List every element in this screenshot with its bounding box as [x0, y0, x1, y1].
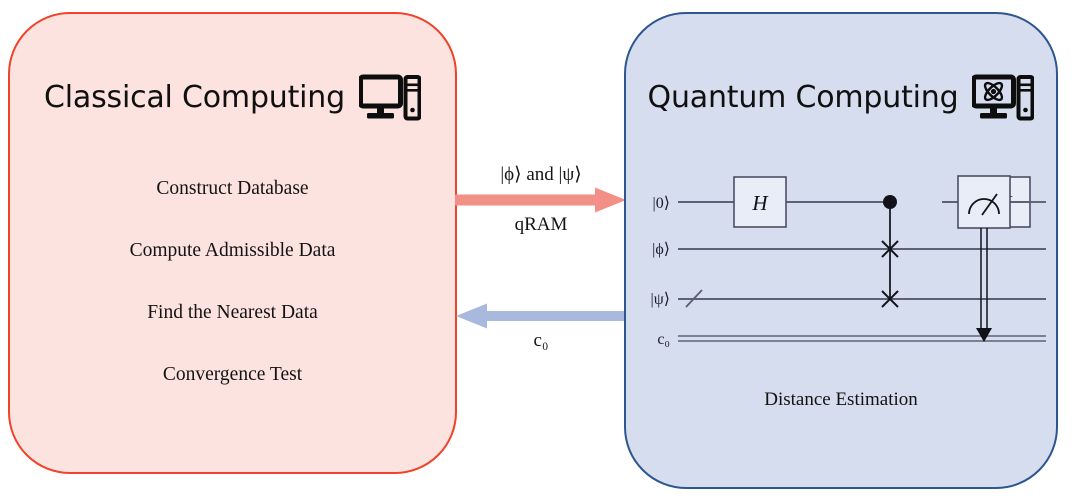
wire-label-3: c₀: [657, 331, 670, 348]
c0-arrow-group: c₀: [455, 303, 627, 353]
quantum-panel-header: Quantum Computing: [626, 74, 1056, 121]
classical-computing-panel: Classical Computing Construct Database C…: [8, 12, 457, 474]
list-item: Convergence Test: [10, 360, 455, 422]
list-item: Compute Admissible Data: [10, 236, 455, 298]
wire-label-1: |ϕ⟩: [652, 241, 670, 258]
readout-arrowhead-icon: [976, 328, 992, 342]
qram-arrow-group: |ϕ⟩ and |ψ⟩ qRAM: [455, 163, 627, 237]
distance-estimation-caption: Distance Estimation: [626, 389, 1056, 411]
hadamard-gate-1-label: H: [751, 191, 769, 215]
quantum-computing-panel: Quantum Computing |0⟩ |ϕ⟩ |ψ⟩: [624, 12, 1058, 489]
wire-label-2: |ψ⟩: [651, 291, 670, 308]
measurement-group: [944, 162, 1032, 362]
measurement-gate: [958, 176, 1010, 228]
c0-arrow-label-below: c₀: [455, 329, 627, 353]
classical-panel-header: Classical Computing: [10, 74, 455, 121]
c0-arrow-icon: [455, 303, 627, 329]
quantum-computer-icon: [972, 74, 1034, 121]
qram-arrow-label-above: |ϕ⟩ and |ψ⟩: [455, 163, 627, 187]
classical-panel-title: Classical Computing: [44, 80, 345, 115]
qram-arrow-label-below: qRAM: [455, 213, 627, 237]
qram-arrow-icon: [455, 187, 627, 213]
list-item: Construct Database: [10, 174, 455, 236]
quantum-panel-title: Quantum Computing: [648, 80, 959, 115]
wire-label-0: |0⟩: [653, 195, 670, 212]
control-dot-icon: [883, 195, 897, 209]
desktop-computer-icon: [359, 74, 421, 121]
classical-step-list: Construct Database Compute Admissible Da…: [10, 174, 455, 422]
list-item: Find the Nearest Data: [10, 298, 455, 360]
